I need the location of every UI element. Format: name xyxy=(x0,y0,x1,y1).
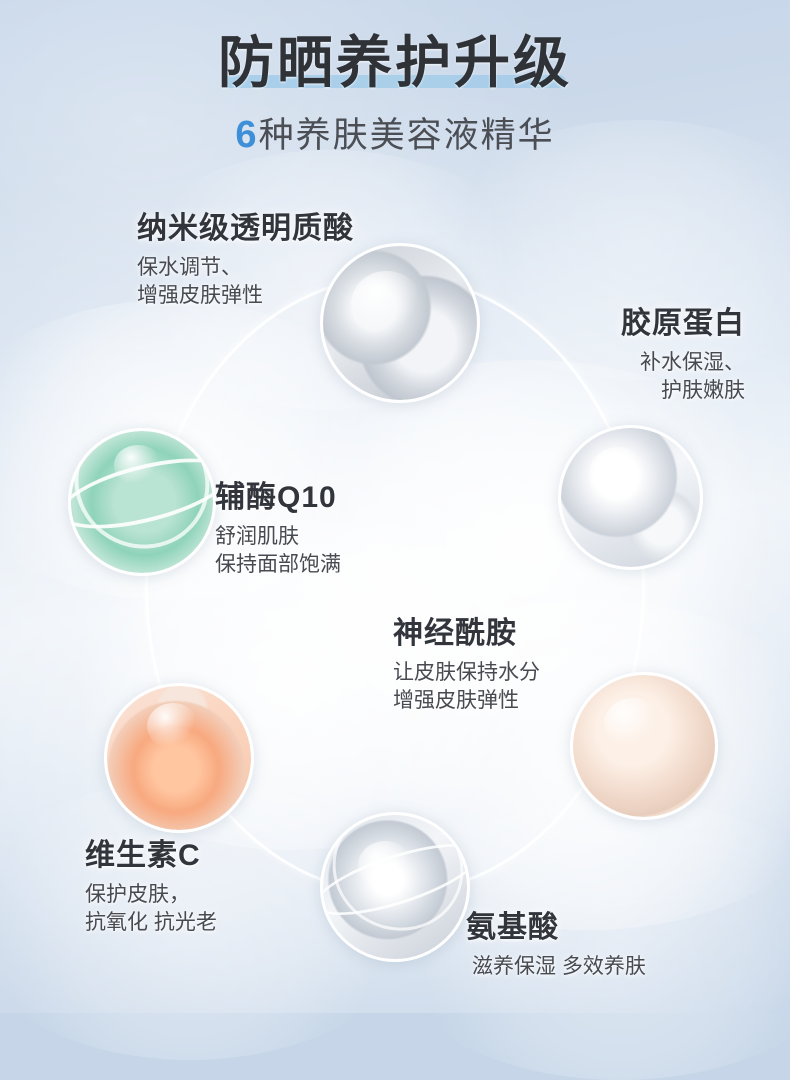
subtitle-count: 6 xyxy=(235,114,258,156)
ingredient-desc-line: 滋养保湿 多效养肤 xyxy=(472,953,646,981)
header: 防晒养护升级 6种养肤美容液精华 xyxy=(0,0,790,158)
ingredient-desc-line: 舒润肌肤 xyxy=(215,523,341,551)
ingredient-desc: 让皮肤保持水分 增强皮肤弹性 xyxy=(393,659,540,716)
ingredient-desc-line: 补水保湿、 xyxy=(621,349,745,377)
ingredient-label-collagen: 胶原蛋白 补水保湿、 护肤嫩肤 xyxy=(621,298,745,406)
ingredient-image-amino xyxy=(320,812,470,962)
ingredient-image-collagen xyxy=(558,425,703,570)
highlight xyxy=(114,445,162,485)
subtitle-text: 种养肤美容液精华 xyxy=(259,116,555,155)
ingredient-label-hyaluronic: 纳米级透明质酸 保水调节、 增强皮肤弹性 xyxy=(137,203,354,311)
ingredient-desc-line: 增强皮肤弹性 xyxy=(393,687,540,715)
ingredient-label-amino: 氨基酸 滋养保湿 多效养肤 xyxy=(466,902,646,981)
ingredient-label-q10: 辅酶Q10 舒润肌肤 保持面部饱满 xyxy=(215,472,341,580)
page-subtitle: 6种养肤美容液精华 xyxy=(0,107,790,158)
highlight xyxy=(351,271,422,339)
ingredient-desc-line: 保护皮肤， xyxy=(85,881,217,909)
ingredient-desc: 保护皮肤， 抗氧化 抗光老 xyxy=(85,881,217,938)
ingredient-name: 氨基酸 xyxy=(466,902,646,946)
ingredient-desc-line: 保水调节、 xyxy=(137,254,354,282)
ingredient-desc: 舒润肌肤 保持面部饱满 xyxy=(215,523,341,580)
ingredient-name: 神经酰胺 xyxy=(393,608,540,652)
highlight xyxy=(358,841,413,890)
ingredient-label-vitaminc: 维生素C 保护皮肤， 抗氧化 抗光老 xyxy=(85,830,217,938)
ingredient-desc-line: 增强皮肤弹性 xyxy=(137,282,354,310)
page-title: 防晒养护升级 xyxy=(218,34,572,93)
ingredient-desc-line: 保持面部饱满 xyxy=(215,551,341,579)
ingredient-name: 胶原蛋白 xyxy=(621,298,745,342)
ingredient-desc: 补水保湿、 护肤嫩肤 xyxy=(621,349,745,406)
highlight xyxy=(589,447,647,503)
title-block: 防晒养护升级 xyxy=(218,34,572,93)
ingredient-label-ceramide: 神经酰胺 让皮肤保持水分 增强皮肤弹性 xyxy=(393,608,540,716)
ingredient-desc: 保水调节、 增强皮肤弹性 xyxy=(137,254,354,311)
ingredient-desc: 滋养保湿 多效养肤 xyxy=(472,953,646,981)
ingredient-desc-line: 让皮肤保持水分 xyxy=(393,659,540,687)
ingredient-image-ceramide xyxy=(570,672,718,820)
ingredient-name: 纳米级透明质酸 xyxy=(137,203,354,247)
ingredient-desc-line: 抗氧化 抗光老 xyxy=(85,909,217,937)
ingredient-name: 维生素C xyxy=(85,830,217,874)
ingredient-desc-line: 护肤嫩肤 xyxy=(621,377,745,405)
ingredient-image-vitaminc xyxy=(104,683,254,833)
highlight xyxy=(604,698,661,749)
ingredient-name: 辅酶Q10 xyxy=(215,472,341,516)
ingredient-image-q10 xyxy=(68,428,216,576)
